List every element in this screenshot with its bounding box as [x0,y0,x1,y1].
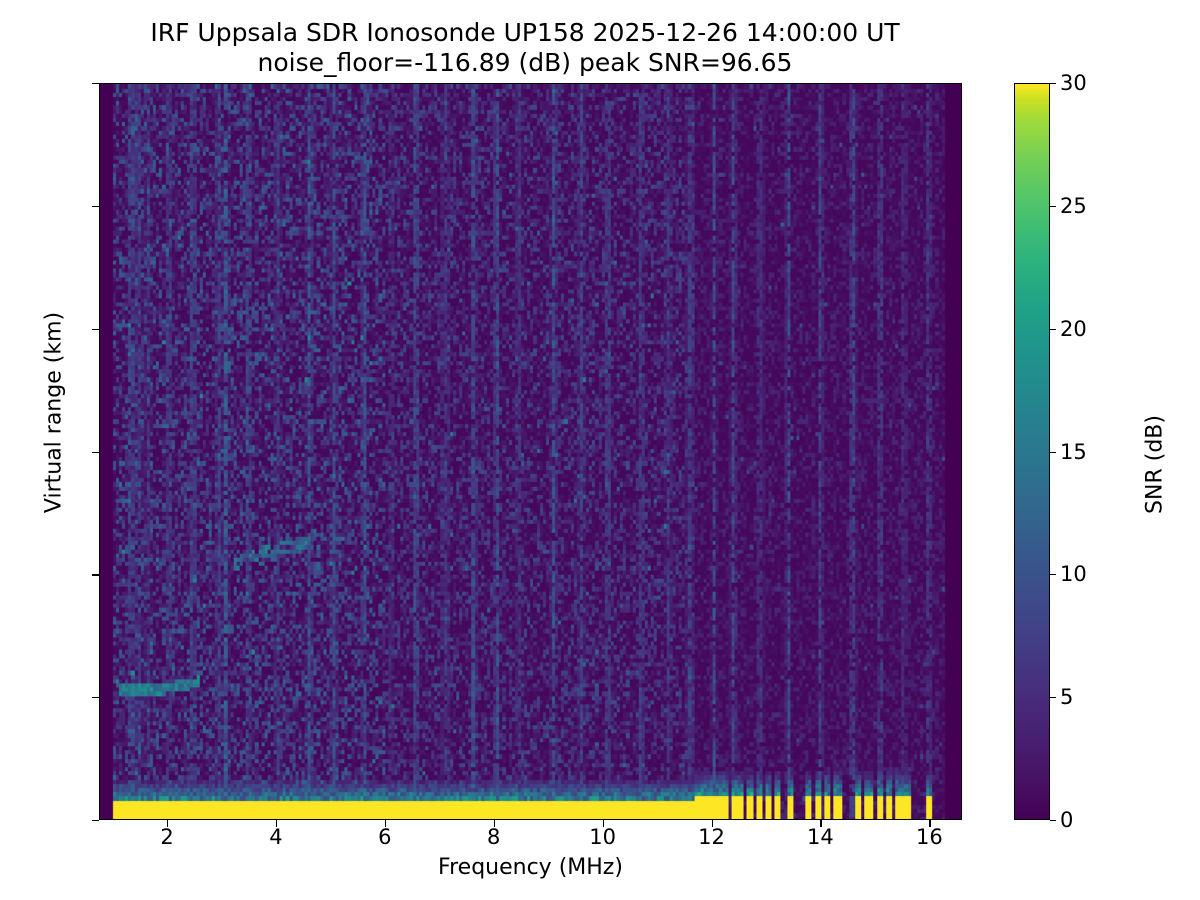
colorbar-tick-label-5: 5 [1060,687,1130,708]
colorbar-tick-label-25: 25 [1060,196,1130,217]
x-tick-mark-14 [820,820,821,827]
colorbar-tick-mark-0 [1050,820,1056,821]
y-tick-mark-400 [92,329,99,330]
x-tick-label-12: 12 [672,827,752,848]
colorbar-tick-label-0: 0 [1060,810,1130,831]
y-axis-label: Virtual range (km) [42,43,67,783]
colorbar-tick-label-20: 20 [1060,319,1130,340]
x-tick-label-6: 6 [345,827,425,848]
x-tick-mark-4 [276,820,277,827]
colorbar-tick-mark-30 [1050,83,1056,84]
colorbar-tick-label-15: 15 [1060,442,1130,463]
colorbar-tick-label-10: 10 [1060,564,1130,585]
y-tick-mark-500 [92,206,99,207]
colorbar-tick-mark-25 [1050,206,1056,207]
y-tick-mark-200 [92,574,99,575]
ionogram-heatmap [100,84,961,819]
colorbar-tick-mark-20 [1050,329,1056,330]
colorbar-tick-mark-15 [1050,452,1056,453]
x-tick-mark-8 [494,820,495,827]
ionogram-figure: IRF Uppsala SDR Ionosonde UP158 2025-12-… [0,0,1200,900]
x-tick-label-14: 14 [780,827,860,848]
x-axis-label: Frequency (MHz) [99,855,962,880]
y-tick-mark-100 [92,697,99,698]
ionogram-plot-area[interactable] [99,83,962,820]
colorbar-label: SNR (dB) [1143,95,1168,835]
page-title: IRF Uppsala SDR Ionosonde UP158 2025-12-… [0,18,1050,78]
y-tick-mark-300 [92,452,99,453]
colorbar-tick-mark-5 [1050,697,1056,698]
y-tick-mark-0 [92,820,99,821]
x-tick-label-4: 4 [236,827,316,848]
title-line-1: IRF Uppsala SDR Ionosonde UP158 2025-12-… [150,18,899,47]
x-tick-mark-12 [712,820,713,827]
title-line-2: noise_floor=-116.89 (dB) peak SNR=96.65 [0,48,1050,78]
x-tick-label-8: 8 [454,827,534,848]
x-tick-mark-10 [603,820,604,827]
colorbar-tick-mark-10 [1050,574,1056,575]
y-tick-mark-600 [92,83,99,84]
x-tick-mark-6 [385,820,386,827]
colorbar[interactable] [1014,83,1050,820]
x-tick-mark-16 [929,820,930,827]
colorbar-tick-label-30: 30 [1060,73,1130,94]
x-tick-label-16: 16 [889,827,969,848]
x-tick-label-10: 10 [563,827,643,848]
x-tick-mark-2 [167,820,168,827]
x-tick-label-2: 2 [127,827,207,848]
